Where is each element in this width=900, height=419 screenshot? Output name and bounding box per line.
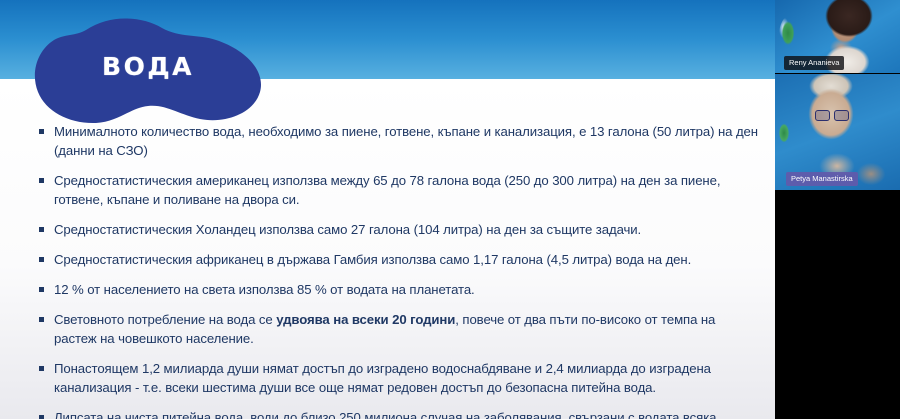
bullet-population-share: 12 % от населението на света използва 85… bbox=[38, 280, 760, 299]
bullet-text: Минималното количество вода, необходимо … bbox=[54, 124, 758, 158]
bullet-american: Средностатистическия американец използва… bbox=[38, 171, 760, 209]
participant-video-strip: Reny Ananieva Petya Manastirska bbox=[775, 0, 900, 419]
bullet-text: Средностатистическия американец използва… bbox=[54, 173, 720, 207]
slide-title-text: ВОДА bbox=[30, 54, 266, 79]
bullet-access: Понастоящем 1,2 милиарда души нямат дост… bbox=[38, 359, 760, 397]
shared-slide[interactable]: ВОДА Минималното количество вода, необхо… bbox=[0, 0, 784, 419]
glasses-icon bbox=[815, 110, 849, 119]
bullet-dutch: Средностатистическия Холандец използва с… bbox=[38, 220, 760, 239]
slide-bullet-list: Минималното количество вода, необходимо … bbox=[38, 122, 760, 419]
participant-name-label: Reny Ananieva bbox=[784, 56, 844, 70]
bullet-disease: Липсата на чиста питейна вода, води до б… bbox=[38, 408, 760, 419]
meeting-screen: ВОДА Минималното количество вода, необхо… bbox=[0, 0, 900, 419]
participant-name-label: Petya Manastirska bbox=[786, 172, 858, 186]
bullet-emphasis: удвоява на всеки 20 години bbox=[276, 312, 455, 327]
bullet-african: Средностатистическия африканец в държава… bbox=[38, 250, 760, 269]
bullet-text: Липсата на чиста питейна вода, води до б… bbox=[54, 410, 716, 419]
bullet-text: Понастоящем 1,2 милиарда души нямат дост… bbox=[54, 361, 711, 395]
bullet-min-water: Минималното количество вода, необходимо … bbox=[38, 122, 760, 160]
bullet-text: Световното потребление на вода се bbox=[54, 312, 276, 327]
bullet-consumption-doubling: Световното потребление на вода се удвояв… bbox=[38, 310, 760, 348]
bullet-text: 12 % от населението на света използва 85… bbox=[54, 282, 475, 297]
bullet-text: Средностатистическия африканец в държава… bbox=[54, 252, 691, 267]
video-tile-petya-manastirska[interactable]: Petya Manastirska bbox=[775, 74, 900, 190]
slide-title-blob: ВОДА bbox=[30, 18, 266, 128]
video-tile-reny-ananieva[interactable]: Reny Ananieva bbox=[775, 0, 900, 73]
bullet-text: Средностатистическия Холандец използва с… bbox=[54, 222, 641, 237]
